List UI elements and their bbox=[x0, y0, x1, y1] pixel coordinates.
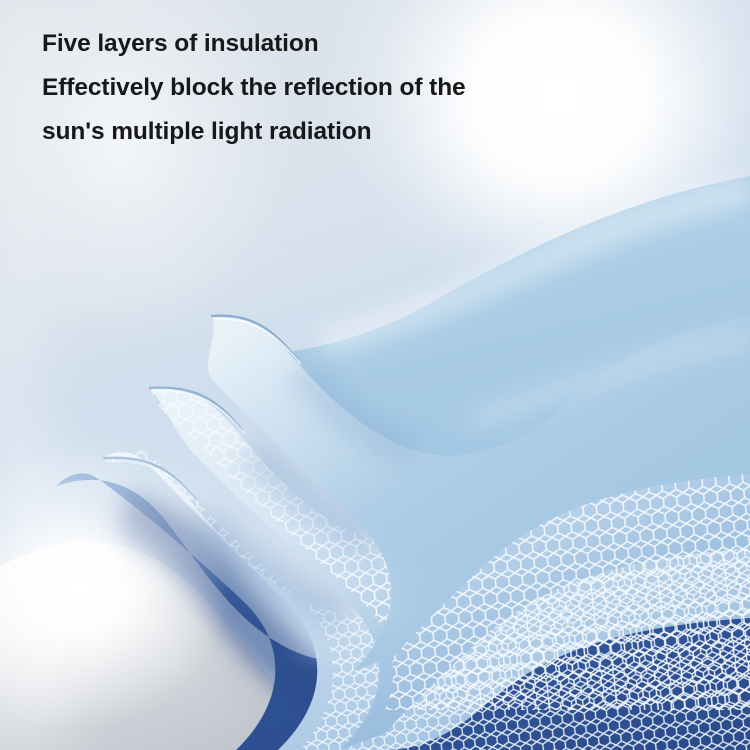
insulation-layers-illustration bbox=[0, 0, 750, 750]
insulation-product-poster: Five layers of insulation Effectively bl… bbox=[0, 0, 750, 750]
